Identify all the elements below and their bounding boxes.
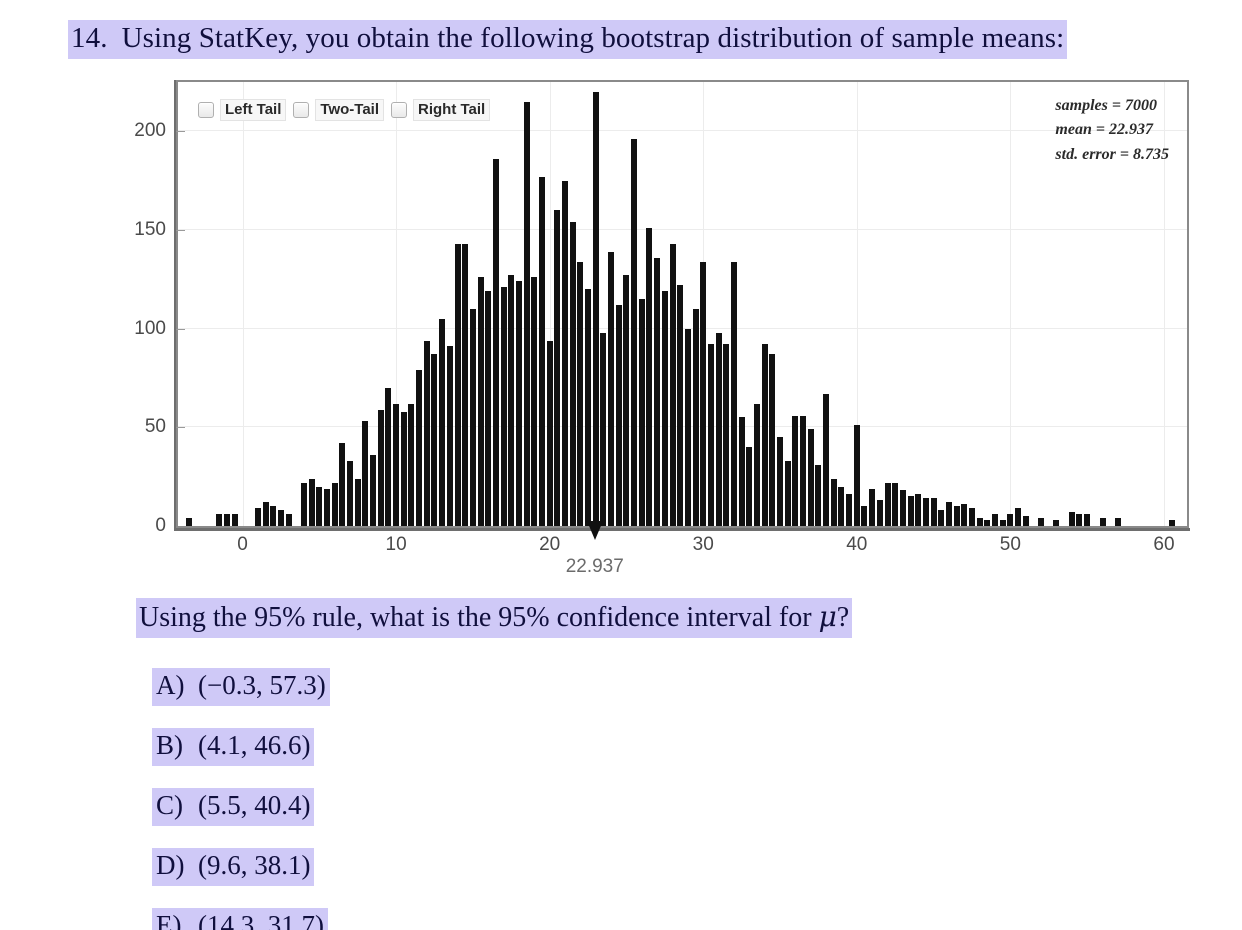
histogram-bar — [424, 341, 430, 526]
histogram-bar — [1076, 514, 1082, 526]
left-tail-label[interactable]: Left Tail — [220, 99, 286, 121]
histogram-bar — [708, 344, 714, 526]
histogram-bar — [416, 370, 422, 526]
right-tail-label[interactable]: Right Tail — [413, 99, 490, 121]
histogram-bar — [961, 504, 967, 526]
histogram-bar — [186, 518, 192, 526]
histogram-bar — [900, 490, 906, 526]
histogram-bar — [923, 498, 929, 526]
histogram-bar — [639, 299, 645, 526]
histogram-bar — [562, 181, 568, 526]
mean-stat: mean = 22.937 — [1055, 118, 1169, 142]
answer-choice-row: A)(−0.3, 57.3) — [152, 668, 652, 728]
histogram-bar — [1053, 520, 1059, 526]
answer-choice-e[interactable]: E)(14.3, 31.7) — [152, 908, 328, 930]
answer-choice-value: (14.3, 31.7) — [198, 910, 324, 930]
histogram-bar — [769, 354, 775, 526]
histogram-bar — [332, 483, 338, 526]
histogram-bar — [854, 425, 860, 526]
histogram-bar — [1169, 520, 1175, 526]
histogram-bar — [823, 394, 829, 526]
histogram-bar — [585, 289, 591, 526]
answer-choice-value: (5.5, 40.4) — [198, 790, 310, 820]
histogram-bar — [278, 510, 284, 526]
histogram-bar — [470, 309, 476, 526]
histogram-bar — [754, 404, 760, 526]
histogram-bar — [700, 262, 706, 526]
mean-marker-label: 22.937 — [566, 556, 624, 578]
answer-choice-letter: A) — [156, 670, 198, 701]
histogram-bar — [792, 416, 798, 527]
question-page: 14.Using StatKey, you obtain the followi… — [0, 0, 1242, 930]
histogram-bar — [1069, 512, 1075, 526]
histogram-bar — [270, 506, 276, 526]
y-tick-mark-50 — [176, 427, 185, 428]
histogram-bar — [746, 447, 752, 526]
histogram-bar — [370, 455, 376, 526]
histogram-bar — [723, 344, 729, 526]
y-tick-label-50: 50 — [145, 416, 166, 438]
histogram-bar — [455, 244, 461, 526]
answer-choice-row: B)(4.1, 46.6) — [152, 728, 652, 788]
tail-option-left[interactable]: Left Tail — [198, 99, 286, 121]
x-tick-label-40: 40 — [846, 534, 867, 556]
histogram-bar — [593, 92, 599, 526]
sub-question-text-before: Using the 95% rule, what is the 95% conf… — [139, 602, 819, 633]
histogram-bar — [439, 319, 445, 526]
histogram-bar — [984, 520, 990, 526]
histogram-bar — [286, 514, 292, 526]
x-tick-label-10: 10 — [386, 534, 407, 556]
two-tail-label[interactable]: Two-Tail — [315, 99, 384, 121]
histogram-bar — [616, 305, 622, 526]
answer-choice-a[interactable]: A)(−0.3, 57.3) — [152, 668, 330, 706]
sub-question-text-after: ? — [837, 602, 849, 633]
y-tick-mark-150 — [176, 230, 185, 231]
tail-option-right[interactable]: Right Tail — [391, 99, 490, 121]
histogram-bar — [716, 333, 722, 526]
histogram-bar — [693, 309, 699, 526]
histogram-bar — [508, 275, 514, 526]
histogram-bar — [462, 244, 468, 526]
histogram-bar — [493, 159, 499, 526]
samples-stat: samples = 7000 — [1055, 94, 1169, 118]
histogram-bars — [178, 82, 1187, 526]
mean-marker-triangle-icon — [587, 521, 603, 540]
histogram-bar — [800, 416, 806, 527]
histogram-bar — [992, 514, 998, 526]
x-tick-label-60: 60 — [1153, 534, 1174, 556]
histogram-bar — [255, 508, 261, 526]
right-tail-checkbox-icon[interactable] — [391, 102, 407, 118]
answer-choices: A)(−0.3, 57.3)B)(4.1, 46.6)C)(5.5, 40.4)… — [152, 668, 652, 930]
y-tick-label-100: 100 — [134, 318, 166, 340]
histogram-bar — [531, 277, 537, 526]
histogram-bar — [608, 252, 614, 526]
histogram-bar — [301, 483, 307, 526]
histogram-bar — [1015, 508, 1021, 526]
histogram-bar — [831, 479, 837, 526]
histogram-bar — [969, 508, 975, 526]
plot-area — [178, 82, 1187, 526]
histogram-bar — [1000, 520, 1006, 526]
answer-choice-letter: B) — [156, 730, 198, 761]
answer-choice-d[interactable]: D)(9.6, 38.1) — [152, 848, 314, 886]
histogram-bar — [224, 514, 230, 526]
histogram-bar — [447, 346, 453, 526]
histogram-bar — [339, 443, 345, 526]
y-tick-label-150: 150 — [134, 219, 166, 241]
histogram-bar — [1115, 518, 1121, 526]
histogram-bar — [885, 483, 891, 526]
histogram-bar — [347, 461, 353, 526]
histogram-bar — [662, 291, 668, 526]
histogram-bar — [501, 287, 507, 526]
x-tick-label-20: 20 — [539, 534, 560, 556]
histogram-bar — [316, 487, 322, 526]
histogram-bar — [846, 494, 852, 526]
answer-choice-value: (4.1, 46.6) — [198, 730, 310, 760]
histogram-bar — [685, 329, 691, 526]
histogram-bar — [485, 291, 491, 526]
answer-choice-letter: C) — [156, 790, 198, 821]
y-tick-mark-200 — [176, 131, 185, 132]
std-error-stat: std. error = 8.735 — [1055, 143, 1169, 167]
histogram-bar — [232, 514, 238, 526]
histogram-bar — [431, 354, 437, 526]
tail-option-two[interactable]: Two-Tail — [293, 99, 384, 121]
histogram-bar — [1007, 514, 1013, 526]
answer-choice-value: (−0.3, 57.3) — [198, 670, 326, 700]
histogram-bar — [524, 102, 530, 526]
histogram-bar — [838, 487, 844, 526]
question-text: Using StatKey, you obtain the following … — [122, 22, 1065, 54]
histogram-bar — [401, 412, 407, 526]
answer-choice-row: C)(5.5, 40.4) — [152, 788, 652, 848]
histogram-bar — [1100, 518, 1106, 526]
stats-summary: samples = 7000 mean = 22.937 std. error … — [1055, 94, 1169, 167]
histogram-bar — [547, 341, 553, 526]
histogram-bar — [362, 421, 368, 526]
histogram-bar — [263, 502, 269, 526]
histogram-bar — [877, 500, 883, 526]
histogram-bar — [808, 429, 814, 526]
answer-choice-row: E)(14.3, 31.7) — [152, 908, 652, 930]
histogram-bar — [1084, 514, 1090, 526]
histogram-bar — [570, 222, 576, 526]
y-tick-mark-100 — [176, 329, 185, 330]
histogram-bar — [478, 277, 484, 526]
histogram-bar — [931, 498, 937, 526]
histogram-bar — [646, 228, 652, 526]
y-tick-label-0: 0 — [155, 515, 166, 537]
histogram-bar — [731, 262, 737, 526]
two-tail-checkbox-icon[interactable] — [293, 102, 309, 118]
histogram-bar — [355, 479, 361, 526]
histogram-bar — [631, 139, 637, 526]
answer-choice-c[interactable]: C)(5.5, 40.4) — [152, 788, 314, 826]
histogram-bar — [869, 489, 875, 526]
histogram-bar — [577, 262, 583, 526]
tail-controls: Left Tail Two-Tail Right Tail — [198, 99, 490, 121]
x-axis-line — [174, 528, 1190, 531]
histogram-bar — [654, 258, 660, 526]
histogram-bar — [861, 506, 867, 526]
page-title: 14.Using StatKey, you obtain the followi… — [68, 20, 1067, 59]
histogram-bar — [408, 404, 414, 526]
histogram-bar — [777, 437, 783, 526]
sub-question: Using the 95% rule, what is the 95% conf… — [136, 598, 852, 638]
left-tail-checkbox-icon[interactable] — [198, 102, 214, 118]
answer-choice-value: (9.6, 38.1) — [198, 850, 310, 880]
histogram-bar — [393, 404, 399, 526]
histogram-bar — [623, 275, 629, 526]
histogram-bar — [516, 281, 522, 526]
answer-choice-row: D)(9.6, 38.1) — [152, 848, 652, 908]
histogram-bar — [539, 177, 545, 526]
histogram-bar — [785, 461, 791, 526]
histogram-bar — [216, 514, 222, 526]
histogram-bar — [378, 410, 384, 526]
histogram-bar — [670, 244, 676, 526]
histogram-bar — [946, 502, 952, 526]
histogram-bar — [600, 333, 606, 526]
histogram-bar — [977, 518, 983, 526]
histogram-bar — [938, 510, 944, 526]
answer-choice-b[interactable]: B)(4.1, 46.6) — [152, 728, 314, 766]
histogram-bar — [762, 344, 768, 526]
x-tick-label-30: 30 — [693, 534, 714, 556]
histogram-bar — [815, 465, 821, 526]
mu-symbol: μ — [819, 600, 837, 633]
answer-choice-letter: D) — [156, 850, 198, 881]
histogram-bar — [385, 388, 391, 526]
answer-choice-letter: E) — [156, 910, 198, 930]
histogram-bar — [1038, 518, 1044, 526]
x-tick-label-0: 0 — [237, 534, 248, 556]
histogram-bar — [954, 506, 960, 526]
histogram-bar — [1023, 516, 1029, 526]
histogram-bar — [739, 417, 745, 526]
bootstrap-distribution-chart: Left Tail Two-Tail Right Tail samples = … — [176, 80, 1189, 528]
y-tick-label-200: 200 — [134, 120, 166, 142]
histogram-bar — [309, 479, 315, 526]
histogram-bar — [324, 489, 330, 526]
histogram-bar — [677, 285, 683, 526]
x-tick-label-50: 50 — [1000, 534, 1021, 556]
histogram-bar — [908, 496, 914, 526]
histogram-bar — [554, 210, 560, 526]
histogram-bar — [892, 483, 898, 526]
histogram-bar — [915, 494, 921, 526]
